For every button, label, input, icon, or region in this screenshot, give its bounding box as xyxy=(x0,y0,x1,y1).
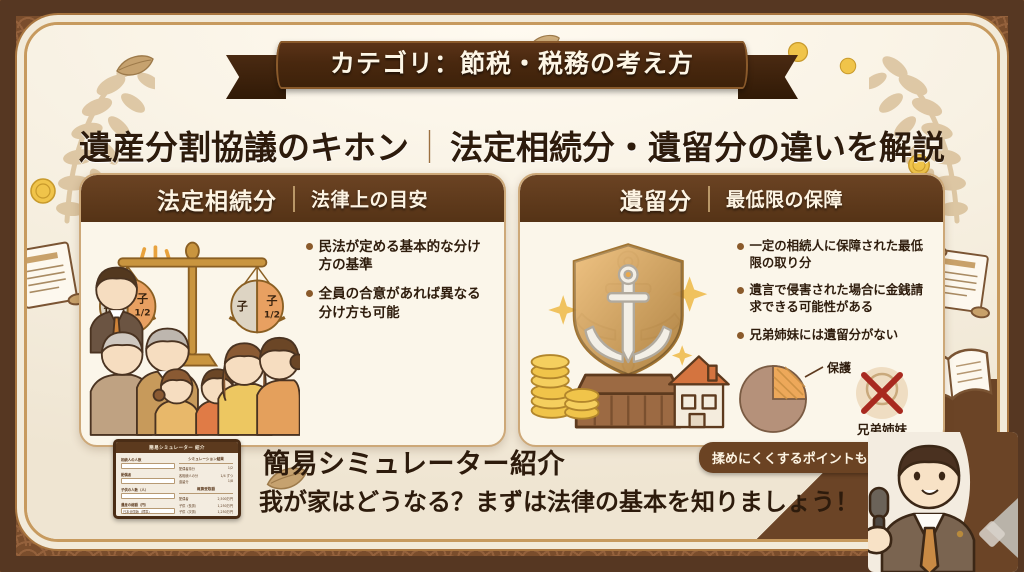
infographic-canvas: カテゴリ：節税・税務の考え方 遺産分割協議のキホン｜法定相続分・遺留分の違いを解… xyxy=(0,0,1024,572)
family-and-scales-illustration: 配偶者 1/2 子 1/2 子 子 1/2 xyxy=(87,228,300,443)
svg-text:子: 子 xyxy=(237,300,248,313)
simulator-form: 相続人の人数 配偶者 子供の人数（人） 遺産の総額（円） 日本全国版（標準） xyxy=(121,457,175,517)
tagline: 我が家はどうなる？まずは法律の基本を知りましょう！ xyxy=(259,482,859,517)
card-reserved-portion-body: 一定の相続人に保障された最低限の取り分 遺言で侵害された場合に金銭請求できる可能… xyxy=(520,222,943,447)
card-legal-share-subtitle: 法律上の目安 xyxy=(311,185,428,212)
card-reserved-portion-bullets: 一定の相続人に保障された最低限の取り分 遺言で侵害された場合に金銭請求できる可能… xyxy=(731,228,936,443)
list-item: 遺言で侵害された場合に金銭請求できる可能性がある xyxy=(737,282,932,315)
result-value: 1,250万円 xyxy=(218,503,234,508)
result-label: 配偶者 xyxy=(179,496,189,501)
simulator-heading: 簡易シミュレーター紹介 xyxy=(263,442,565,481)
card-legal-share-header: 法定相続分 法律上の目安 xyxy=(81,175,504,222)
bullet-text: 民法が定める基本的な分け方の基準 xyxy=(319,238,492,274)
simulator-window-title: 簡易シミュレーター 紹介 xyxy=(116,442,238,453)
card-reserved-portion-header: 遺留分 最低限の保障 xyxy=(520,175,943,222)
pie-label: 保護 xyxy=(826,360,852,375)
card-legal-share[interactable]: 法定相続分 法律上の目安 xyxy=(79,173,506,447)
list-item: 全員の合意があれば異なる分け方も可能 xyxy=(306,285,492,321)
result-row: 各相続人の分 1/4 ずつ xyxy=(179,473,233,478)
result-label: 各相続人の分 xyxy=(179,473,198,478)
presenter-avatar xyxy=(868,432,1018,572)
svg-text:1/2: 1/2 xyxy=(264,309,280,320)
bullet-text: 兄弟姉妹には遺留分がない xyxy=(750,327,899,344)
comparison-cards: 法定相続分 法律上の目安 xyxy=(79,173,945,447)
header-divider xyxy=(293,186,295,212)
select-dropdown[interactable]: 日本全国版（標準） xyxy=(121,508,175,514)
bullet-dot-icon xyxy=(737,243,744,250)
header-divider xyxy=(708,186,710,212)
text-input[interactable] xyxy=(121,463,175,469)
result-label: 配偶者持分 xyxy=(179,466,195,471)
field-label: 遺産の総額（円） xyxy=(121,502,175,507)
bullet-text: 遺言で侵害された場合に金銭請求できる可能性がある xyxy=(750,282,932,315)
result-label: 遺留分 xyxy=(179,479,189,484)
page-title: 遺産分割協議のキホン｜法定相続分・遺留分の違いを解説 xyxy=(27,121,997,169)
card-reserved-portion-title: 遺留分 xyxy=(620,182,692,216)
title-separator: ｜ xyxy=(409,128,450,167)
field-label: 相続人の人数 xyxy=(121,457,175,462)
bullet-dot-icon xyxy=(737,332,744,339)
card-legal-share-title: 法定相続分 xyxy=(157,182,277,216)
simulator-mockup[interactable]: 簡易シミュレーター 紹介 相続人の人数 配偶者 子供の人数（人） 遺産の総額（円… xyxy=(113,439,241,519)
result-row: 配偶者 2,500万円 xyxy=(179,496,233,501)
svg-text:1/2: 1/2 xyxy=(134,308,150,319)
bullet-dot-icon xyxy=(306,290,313,297)
result-value: 1,250万円 xyxy=(218,509,234,514)
field-label: 配偶者 xyxy=(121,472,175,477)
result-value: 1/4 ずつ xyxy=(220,473,233,478)
list-item: 一定の相続人に保障された最低限の取り分 xyxy=(737,238,932,271)
result-row: 配偶者持分 1/2 xyxy=(179,466,233,471)
result-label: 子供（長男） xyxy=(179,503,198,508)
simulator-columns: 相続人の人数 配偶者 子供の人数（人） 遺産の総額（円） 日本全国版（標準） シ… xyxy=(116,453,238,519)
text-input[interactable] xyxy=(121,493,175,499)
card-legal-share-bullets: 民法が定める基本的な分け方の基準 全員の合意があれば異なる分け方も可能 xyxy=(300,228,496,443)
result-heading: シミュレーション結果 xyxy=(179,457,233,464)
simulator-results: シミュレーション結果 配偶者持分 1/2 各相続人の分 1/4 ずつ 遺留分 1… xyxy=(179,457,233,517)
result-row: 子供（長男） 1,250万円 xyxy=(179,503,233,508)
result-value: 1/8 xyxy=(228,479,233,484)
list-item: 民法が定める基本的な分け方の基準 xyxy=(306,238,492,274)
list-item: 兄弟姉妹には遺留分がない xyxy=(737,327,932,344)
bullet-dot-icon xyxy=(737,287,744,294)
bullet-dot-icon xyxy=(306,243,313,250)
result-value: 2,500万円 xyxy=(218,496,234,501)
result-subheading: 概算受取額 xyxy=(179,487,233,494)
bullet-text: 一定の相続人に保障された最低限の取り分 xyxy=(750,238,932,271)
result-value: 1/2 xyxy=(228,466,233,471)
card-reserved-portion[interactable]: 遺留分 最低限の保障 xyxy=(518,173,945,447)
svg-text:子: 子 xyxy=(137,293,148,306)
result-label: 子供（次男） xyxy=(179,509,198,514)
field-label: 子供の人数（人） xyxy=(121,487,175,492)
bottom-bar: 簡易シミュレーター 紹介 相続人の人数 配偶者 子供の人数（人） 遺産の総額（円… xyxy=(27,423,997,533)
shield-anchor-coins-house-illustration xyxy=(526,228,731,443)
card-reserved-portion-subtitle: 最低限の保障 xyxy=(726,185,843,212)
bullet-text: 全員の合意があれば異なる分け方も可能 xyxy=(319,285,492,321)
svg-text:子: 子 xyxy=(266,295,277,308)
text-input[interactable] xyxy=(121,478,175,484)
content-panel: カテゴリ：節税・税務の考え方 遺産分割協議のキホン｜法定相続分・遺留分の違いを解… xyxy=(24,22,1000,542)
page-title-left: 遺産分割協議のキホン xyxy=(79,128,409,167)
category-banner: カテゴリ：節税・税務の考え方 xyxy=(27,41,997,89)
result-row: 遺留分 1/8 xyxy=(179,479,233,484)
result-row: 子供（次男） 1,250万円 xyxy=(179,509,233,514)
category-label: カテゴリ：節税・税務の考え方 xyxy=(276,41,748,89)
page-title-right: 法定相続分・遺留分の違いを解説 xyxy=(450,128,945,167)
card-legal-share-body: 配偶者 1/2 子 1/2 子 子 1/2 xyxy=(81,222,504,447)
